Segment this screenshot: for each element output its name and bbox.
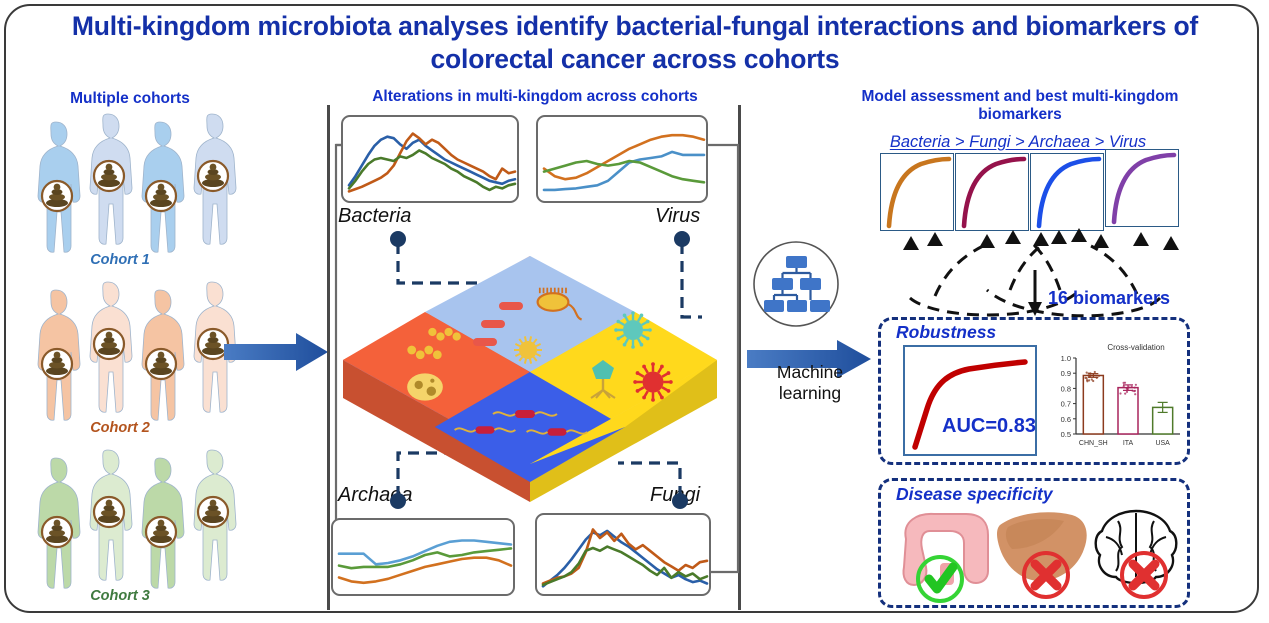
person-silhouette	[90, 282, 132, 412]
cross-validation-barchart: Cross-validation0.50.60.70.80.91.0CHN_SH…	[1046, 336, 1186, 456]
y-tick-label: 0.5	[1061, 430, 1071, 439]
person-silhouette	[142, 458, 184, 588]
bacteria-rod-icon	[481, 320, 505, 328]
person-silhouette	[194, 114, 236, 244]
bacteria-rod-icon	[473, 338, 497, 346]
disease-specificity-title: Disease specificity	[896, 484, 1053, 505]
biomarkers-label: 16 biomarkers	[1048, 288, 1170, 309]
cohort-group: Cohort 3	[20, 446, 250, 606]
archaea-cell-icon	[407, 373, 443, 400]
cohort-label: Cohort 2	[30, 420, 210, 436]
auc-value: AUC=0.83	[942, 415, 1036, 438]
series-line	[339, 558, 511, 583]
brain-icon	[1096, 511, 1177, 597]
person-silhouette	[142, 290, 184, 420]
y-tick-label: 0.8	[1061, 384, 1071, 393]
x-tick-label: CHN_SH	[1079, 440, 1108, 447]
cohort-group: Cohort 2	[20, 278, 250, 438]
series-line	[544, 135, 704, 179]
cohort-label: Cohort 1	[30, 252, 210, 268]
virus-chart-box	[536, 115, 708, 203]
organ-icons-row	[890, 505, 1182, 603]
page-title: Multi-kingdom microbiota analyses identi…	[60, 10, 1210, 76]
y-tick-label: 0.7	[1061, 400, 1071, 409]
person-silhouette	[90, 450, 132, 580]
multikingdom-puzzle	[325, 232, 735, 502]
cohort-group: Cohort 1	[20, 110, 250, 270]
roc-panel-bacteria	[880, 153, 954, 231]
middle-section-heading: Alterations in multi-kingdom across coho…	[330, 88, 740, 106]
y-tick-label: 1.0	[1061, 354, 1071, 363]
x-tick-label: USA	[1155, 440, 1170, 447]
right-section-heading: Model assessment and best multi-kingdom …	[855, 88, 1185, 124]
cohorts-group: Cohort 1Cohort 2Cohort 3	[20, 110, 250, 615]
person-silhouette	[38, 290, 80, 420]
auc-roc-box	[903, 345, 1037, 456]
y-tick-label: 0.6	[1061, 415, 1071, 424]
roc-panel-fungi	[955, 153, 1029, 231]
bacteria-rod-icon	[499, 302, 523, 310]
roc-panel-archaea	[1030, 153, 1104, 231]
machine-learning-label: Machine learning	[750, 362, 870, 404]
bacteria-chart-box	[341, 115, 519, 203]
fungi-chart-box	[535, 513, 711, 596]
roc-panel-virus	[1105, 149, 1179, 227]
person-silhouette	[194, 450, 236, 580]
liver-icon	[997, 512, 1087, 597]
roc-panel-row	[880, 153, 1178, 231]
person-silhouette	[38, 458, 80, 588]
archaea-chart-box	[331, 518, 515, 596]
series-line	[544, 152, 704, 190]
bar	[1083, 375, 1103, 434]
series-line	[349, 150, 515, 190]
person-silhouette	[90, 114, 132, 244]
left-section-heading: Multiple cohorts	[30, 90, 230, 108]
x-tick-label: ITA	[1123, 440, 1134, 447]
chart-title: Cross-validation	[1107, 343, 1164, 352]
person-silhouette	[38, 122, 80, 252]
series-line	[349, 134, 515, 192]
cohort-label: Cohort 3	[30, 588, 210, 604]
graphical-abstract: Multi-kingdom microbiota analyses identi…	[0, 0, 1269, 623]
colon-icon	[903, 514, 988, 601]
robustness-title: Robustness	[896, 322, 996, 343]
person-silhouette	[142, 122, 184, 252]
machine-learning-icon	[752, 240, 840, 328]
y-tick-label: 0.9	[1061, 369, 1071, 378]
